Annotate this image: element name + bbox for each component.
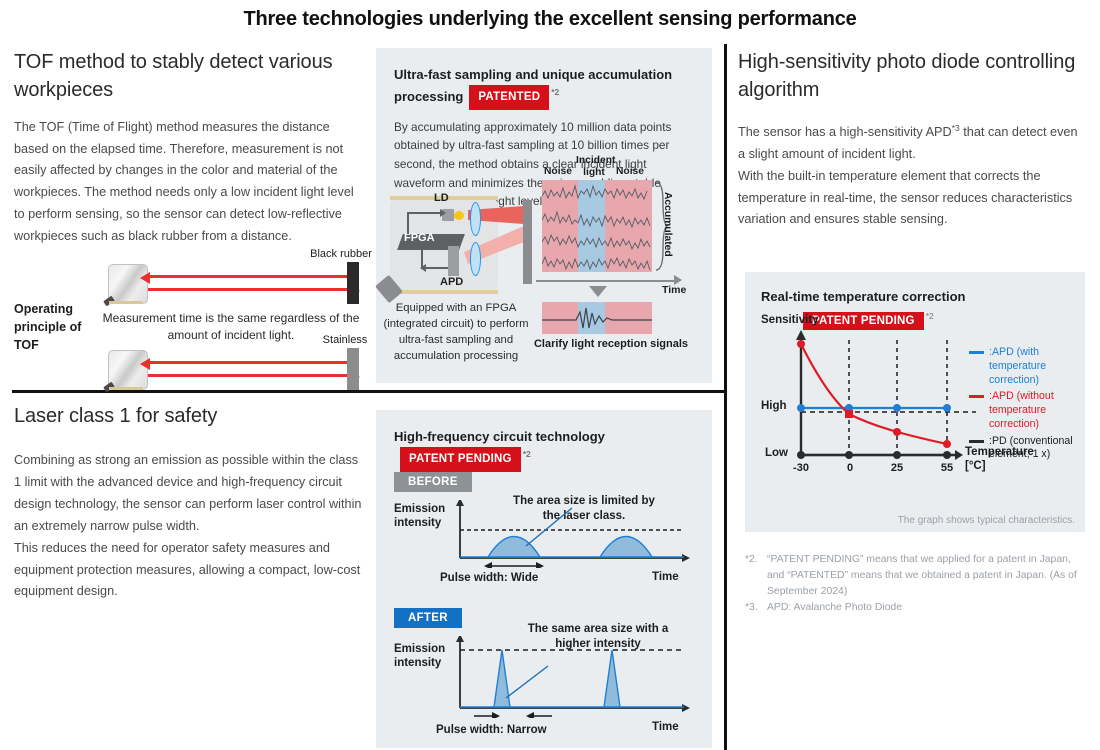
chart-xtick-0: -30 — [787, 462, 815, 474]
right-body-2: With the built-in temperature element th… — [738, 166, 1088, 232]
before-plot — [454, 500, 694, 568]
laser-body-1: Combining as strong an emission as possi… — [14, 450, 366, 537]
result-caption: Clarify light reception signals — [516, 338, 706, 350]
temperature-chart-plot — [761, 328, 981, 478]
chart-before: BEFORE Emission intensity The area size … — [394, 472, 694, 590]
mid-bot-heading-text: High-frequency circuit technology — [394, 429, 605, 444]
sensor-icon-bottom — [108, 350, 148, 390]
footnote-row: *3. APD: Avalanche Photo Diode — [745, 600, 1090, 616]
tof-diagram: Operating principle of TOF Black rubber … — [14, 258, 366, 398]
legend-item-apd-with: :APD (with temperature correction) — [969, 346, 1081, 387]
right-heading: High-sensitivity photo diode controlling… — [738, 48, 1088, 105]
chart-xtick-2: 25 — [885, 462, 909, 474]
chart-typical-note: The graph shows typical characteristics. — [898, 515, 1075, 526]
chart-y-axis-title: Sensitivity — [761, 314, 819, 326]
chart-after: AFTER Emission intensity The same area s… — [394, 608, 694, 736]
sensor-icon-top — [108, 264, 148, 304]
section-photo-diode: High-sensitivity photo diode controlling… — [738, 48, 1088, 231]
accumulated-label: Accumulated — [662, 192, 673, 257]
waveform-result-block — [542, 302, 652, 334]
before-pulse-label: Pulse width: Wide — [440, 572, 538, 584]
footnote-key: *3. — [745, 600, 767, 616]
legend-swatch-apd-without — [969, 395, 984, 398]
before-y-axis-label: Emission intensity — [394, 502, 458, 531]
beam-emit-top — [148, 288, 351, 291]
temp-panel-heading: Real-time temperature correction — [761, 286, 1085, 307]
legend-item-pd: :PD (conventional element, 1 x) — [969, 435, 1081, 463]
before-x-axis-label: Time — [652, 570, 679, 584]
beam-emit-bottom — [148, 374, 351, 377]
chart-ytick-low: Low — [765, 447, 788, 459]
tof-principle-label: Operating principle of TOF — [14, 300, 90, 354]
beam-arrow-left-top — [140, 272, 150, 284]
after-plot — [454, 636, 694, 718]
page-title: Three technologies underlying the excell… — [0, 8, 1100, 31]
after-pulse-label: Pulse width: Narrow — [436, 724, 547, 736]
legend-item-apd-without: :APD (without temperature correction) — [969, 390, 1081, 431]
beam-return-top — [147, 275, 350, 278]
waveform-accumulated-block — [542, 180, 652, 272]
mid-top-heading: Ultra-fast sampling and unique accumulat… — [394, 64, 694, 110]
time-axis-label: Time — [662, 284, 686, 296]
after-x-axis-label: Time — [652, 720, 679, 734]
page-root: Three technologies underlying the excell… — [0, 0, 1100, 750]
chart-xtick-1: 0 — [839, 462, 861, 474]
chart-legend: :APD (with temperature correction) :APD … — [969, 346, 1081, 465]
footnote-row: *2. “PATENT PENDING” means that we appli… — [745, 552, 1090, 600]
vertical-divider — [724, 44, 727, 750]
target-label-stainless: Stainless — [314, 334, 376, 346]
chart-ytick-high: High — [761, 400, 787, 412]
waveform-label-noise-left: Noise — [542, 166, 574, 177]
patent-pending-badge-sup-temp: *2 — [926, 311, 934, 321]
legend-label-pd: :PD (conventional element, 1 x) — [989, 435, 1081, 463]
noisy-traces — [542, 180, 652, 272]
target-label-black-rubber: Black rubber — [306, 248, 376, 260]
mid-bot-heading: High-frequency circuit technologyPATENT … — [394, 426, 694, 472]
sampling-diagram: FPGA LD APD — [376, 180, 712, 380]
footnote-text: “PATENT PENDING” means that we applied f… — [767, 552, 1090, 600]
beam-arrow-left-bottom — [140, 358, 150, 370]
legend-label-apd-without: :APD (without temperature correction) — [989, 390, 1081, 431]
footnotes: *2. “PATENT PENDING” means that we appli… — [745, 552, 1090, 617]
device-caption: Equipped with an FPGA (integrated circui… — [376, 300, 536, 364]
panel-high-frequency-circuit: High-frequency circuit technologyPATENT … — [376, 410, 712, 748]
after-tag: AFTER — [394, 608, 462, 628]
legend-swatch-apd-with — [969, 351, 984, 354]
tof-body: The TOF (Time of Flight) method measures… — [14, 117, 366, 248]
patent-pending-badge-circuit: PATENT PENDING — [400, 447, 521, 472]
before-tag: BEFORE — [394, 472, 472, 492]
target-wall — [523, 200, 532, 284]
lens-receive — [470, 242, 481, 276]
sensor-foot-top — [103, 296, 115, 307]
beam-return-bottom — [147, 361, 350, 364]
laser-heading: Laser class 1 for safety — [14, 402, 366, 430]
chart-xtick-3: 55 — [935, 462, 959, 474]
legend-label-apd-with: :APD (with temperature correction) — [989, 346, 1081, 387]
waveform-label-noise-right: Noise — [614, 166, 646, 177]
tof-heading: TOF method to stably detect various work… — [14, 48, 366, 105]
right-body-1: The sensor has a high-sensitivity APD*3 … — [738, 121, 1088, 166]
time-axis-line — [536, 280, 676, 282]
patented-badge: PATENTED — [469, 85, 549, 110]
waveform-label-incident: Incident light — [576, 155, 612, 179]
laser-body-2: This reduces the need for operator safet… — [14, 538, 366, 604]
section-laser-class: Laser class 1 for safety Combining as st… — [14, 402, 366, 603]
result-trace — [542, 302, 652, 334]
legend-swatch-pd — [969, 440, 984, 443]
footnote-key: *2. — [745, 552, 767, 600]
target-black-rubber — [347, 262, 359, 304]
sensor-foot-bottom — [103, 382, 115, 393]
patent-pending-badge-sup-circuit: *2 — [523, 449, 531, 459]
panel-ultrafast-sampling: Ultra-fast sampling and unique accumulat… — [376, 48, 712, 383]
flow-down-arrow — [589, 286, 607, 297]
target-stainless — [347, 348, 359, 390]
footnote-text: APD: Avalanche Photo Diode — [767, 600, 902, 616]
after-y-axis-label: Emission intensity — [394, 642, 458, 671]
section-tof: TOF method to stably detect various work… — [14, 48, 366, 398]
lens-emit — [470, 202, 481, 236]
panel-temperature-correction: Real-time temperature correction PATENT … — [745, 272, 1085, 532]
apd-footnote-ref: *3 — [952, 123, 960, 133]
patented-badge-sup: *2 — [551, 87, 559, 97]
right-body-1-pre: The sensor has a high-sensitivity APD — [738, 125, 952, 139]
